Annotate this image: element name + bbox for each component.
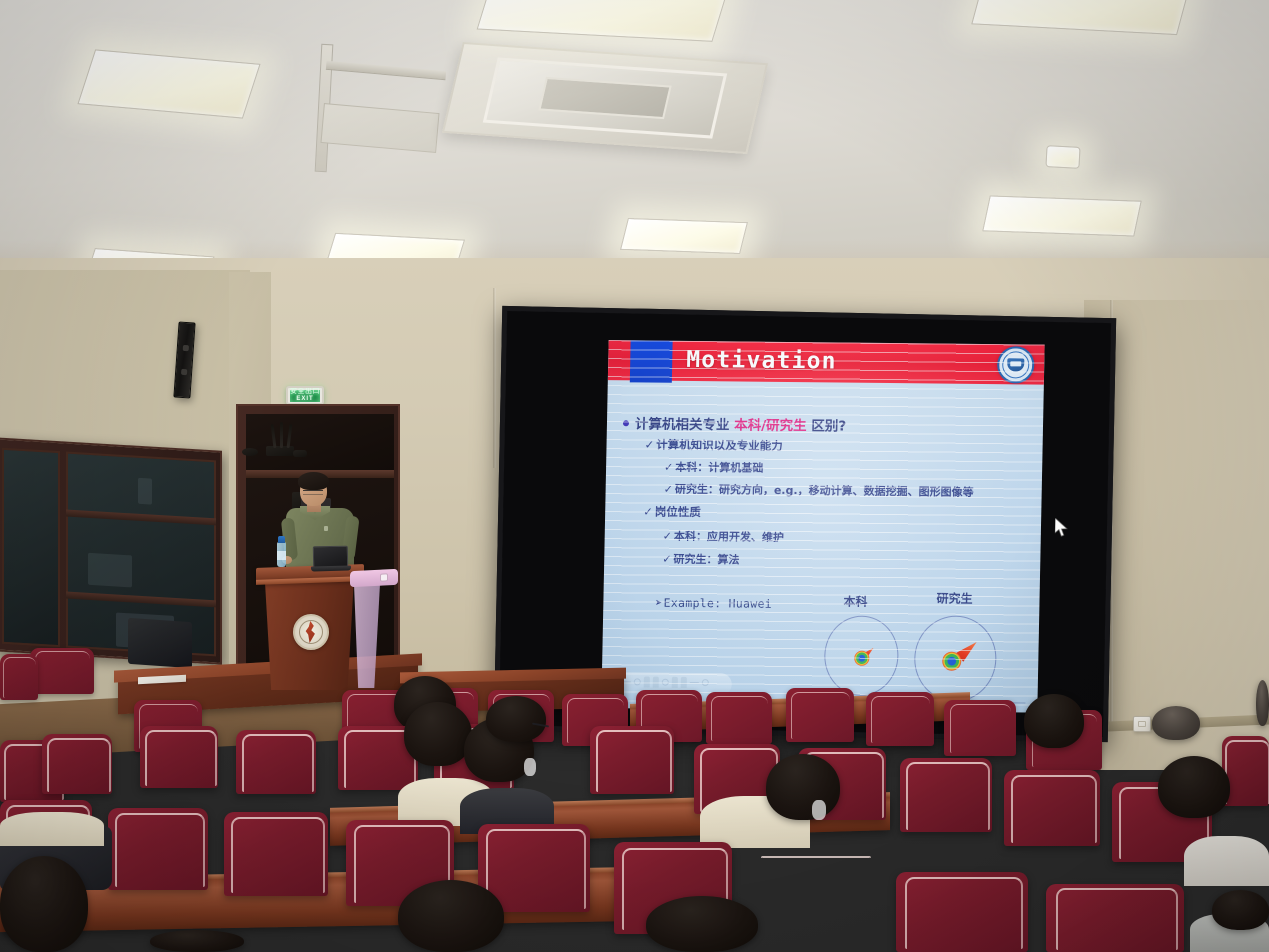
emblem-mark-icon [304, 621, 318, 643]
device-box [293, 450, 307, 457]
ceiling-light [620, 218, 748, 254]
seat[interactable] [224, 812, 328, 896]
university-emblem [293, 614, 329, 650]
watermark-figure [653, 677, 659, 688]
slide-bullet-3: ✓本科：计算机基础 [664, 459, 764, 476]
bullet-4-label: 研究生：研究方向，e.g.，移动计算、数据挖掘、图形图像等 [675, 483, 974, 499]
watermark-figure [672, 677, 678, 688]
cable-coil [242, 448, 258, 456]
lectern-control-panel[interactable] [350, 569, 398, 588]
check-icon: ✓ [664, 461, 673, 474]
audience-head [150, 930, 244, 952]
slide-title: Motivation [686, 347, 837, 375]
audience-head [0, 856, 88, 952]
ceiling-spot-light [1045, 145, 1080, 169]
diagram-1-dot-group [853, 648, 873, 668]
laptop-base[interactable] [311, 565, 351, 571]
cabinet-item [88, 553, 132, 588]
slide-bullet-5: ✓岗位性质 [643, 503, 701, 520]
face-mask [524, 758, 536, 776]
cabinet-item [138, 478, 152, 505]
speaker-driver [182, 345, 188, 351]
audience-shoulders [0, 812, 104, 846]
ceiling-light [982, 195, 1142, 236]
seat[interactable] [590, 726, 674, 794]
slide-content: 计算机相关专业 本科/研究生 区别? ✓计算机知识以及专业能力 ✓本科：计算机基… [601, 380, 1044, 712]
audience-head [404, 702, 472, 766]
audience-head [1158, 756, 1230, 818]
bullet-1-seg-a: 计算机相关专业 [635, 416, 735, 433]
bottle-cap [278, 536, 285, 543]
diagram-2-label: 研究生 [936, 590, 972, 607]
cabinet-chair [128, 618, 192, 668]
seat[interactable] [30, 648, 94, 694]
seat[interactable] [900, 758, 992, 832]
seat[interactable] [944, 700, 1016, 756]
diagram-1-dot [854, 651, 869, 666]
seat[interactable] [1004, 770, 1100, 846]
bullet-3-label: 本科：计算机基础 [675, 461, 763, 475]
bullet-2-label: 计算机知识以及专业能力 [656, 438, 783, 453]
bullet-6-label: 本科：应用开发、维护 [674, 530, 784, 544]
ac-grille [539, 77, 672, 119]
wall-seam [493, 288, 496, 468]
presenter-glasses [303, 490, 323, 495]
bullet-1-seg-c: 区别? [806, 418, 846, 434]
audience-head [1024, 694, 1084, 748]
diagram-1-label: 本科 [843, 593, 867, 610]
diagram-2-dot-group [942, 642, 977, 674]
ac-diffuser [483, 57, 727, 139]
bottle-label [277, 551, 286, 560]
exit-sign-face: 安全出口 EXIT [290, 390, 321, 402]
panel-button[interactable] [380, 573, 388, 581]
seat[interactable] [896, 872, 1028, 952]
exit-sign-label-cn: 安全出口 [290, 388, 320, 395]
seat[interactable] [42, 734, 112, 794]
switch-rocker [1138, 721, 1147, 727]
slide-bullet-7: ✓研究生：算法 [662, 551, 740, 568]
check-icon: ✓ [662, 553, 671, 566]
check-icon: ✓ [643, 504, 653, 518]
bullet-5-label: 岗位性质 [655, 505, 701, 519]
slide-example-row: ➤Example: Huawei [655, 596, 772, 611]
seat[interactable] [1046, 884, 1184, 952]
shirt-logo [324, 526, 328, 531]
arrow-icon: ➤ [655, 596, 663, 610]
check-icon: ✓ [663, 530, 672, 543]
seat[interactable] [866, 692, 934, 746]
exit-sign-label-en: EXIT [296, 395, 313, 403]
bullet-7-label: 研究生：算法 [673, 553, 739, 567]
audience-head [486, 696, 546, 742]
slide-bullet-2: ✓计算机知识以及专业能力 [644, 436, 782, 453]
bullet-1-emphasis: 本科/研究生 [734, 417, 807, 434]
title-accent-block [630, 340, 673, 383]
timeline-watermark [612, 676, 709, 688]
example-label: Example: Huawei [663, 596, 772, 611]
cabinet-glass-door[interactable] [2, 448, 60, 647]
watermark-node [662, 679, 669, 686]
seat[interactable] [0, 654, 38, 700]
presenter-hair [298, 472, 329, 490]
face-mask [812, 800, 826, 820]
router-antenna [280, 422, 283, 448]
audience-head [646, 896, 758, 952]
watermark-node [702, 679, 709, 686]
audience-head [766, 754, 840, 820]
seat[interactable] [706, 692, 772, 744]
audience-shoulders [1184, 836, 1269, 886]
university-seal-logo [997, 346, 1035, 383]
slide-bullet-4: ✓研究生：研究方向，e.g.，移动计算、数据挖掘、图形图像等 [664, 481, 974, 500]
slide-bullet-1: 计算机相关专业 本科/研究生 区别? [623, 412, 847, 434]
bullet-dot-icon [623, 420, 629, 426]
slide-bullet-6: ✓本科：应用开发、维护 [663, 528, 785, 545]
lecture-hall-scene: 安全出口 EXIT Motivation [0, 0, 1269, 952]
seat[interactable] [236, 730, 316, 794]
presentation-slide: Motivation 计算机相关专业 本科/研究生 区别? ✓计算机知识以及专业… [601, 340, 1044, 712]
check-icon: ✓ [664, 483, 673, 496]
seat[interactable] [786, 688, 854, 742]
alcove-upper-recess [246, 414, 394, 472]
audience-head [1152, 706, 1200, 740]
check-icon: ✓ [644, 437, 654, 451]
seat[interactable] [108, 808, 208, 890]
audience-head [398, 880, 504, 952]
mouse-cursor [1055, 518, 1068, 537]
watermark-node [634, 678, 641, 685]
slide-title-bar: Motivation [608, 340, 1045, 385]
audience-head [1212, 890, 1269, 930]
exit-sign: 安全出口 EXIT [286, 386, 324, 405]
seal-inner-mark [1007, 358, 1024, 371]
audience-head [1256, 680, 1269, 726]
speaker-driver [180, 369, 186, 375]
diagram-2-dot [942, 652, 961, 671]
watermark-figure [644, 676, 650, 687]
wall-switch-plate[interactable] [1133, 716, 1151, 732]
watermark-figure [681, 677, 687, 688]
watermark-connector [690, 682, 699, 683]
seat[interactable] [140, 726, 218, 788]
